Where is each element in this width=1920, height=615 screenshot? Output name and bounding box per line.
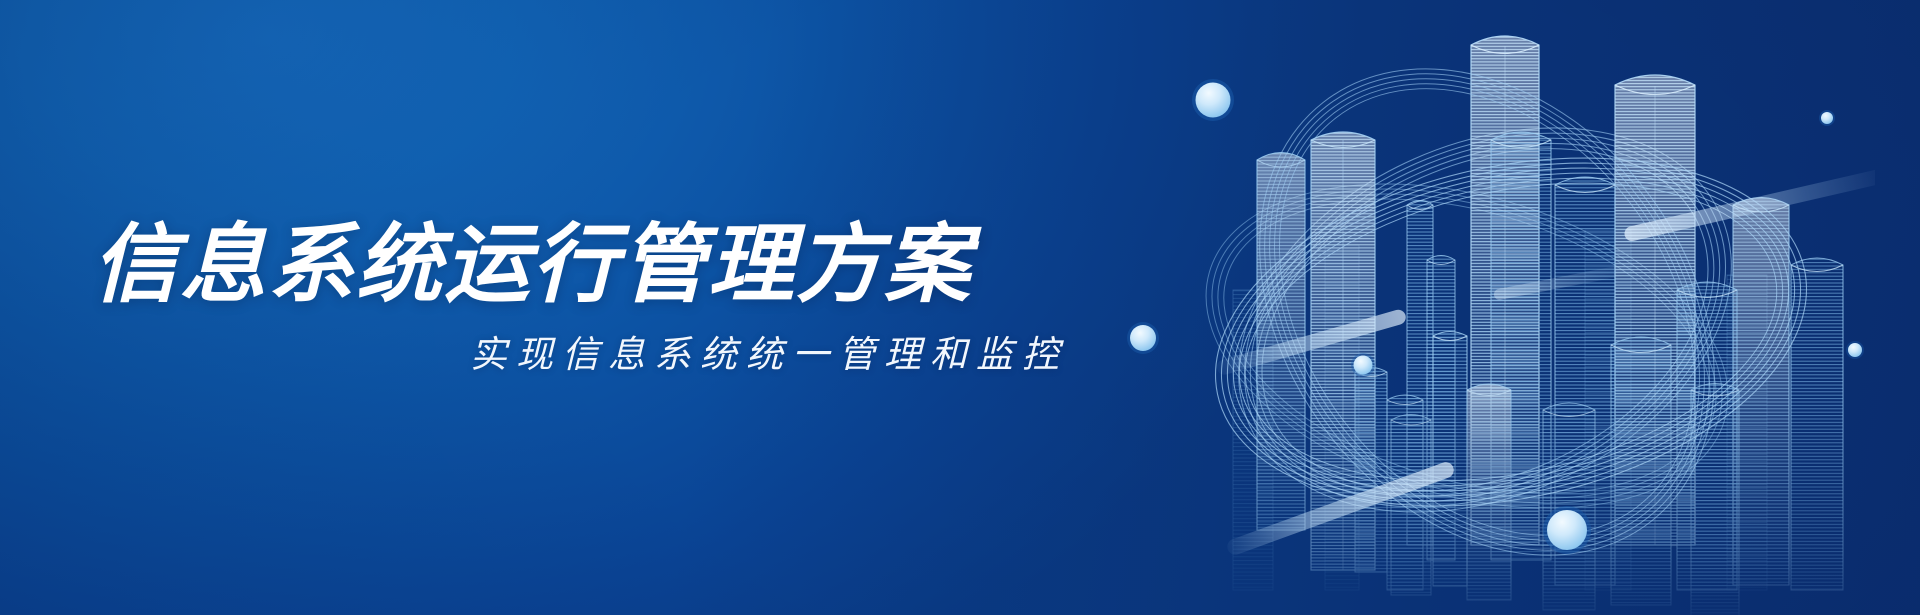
banner-headline: 信息系统运行管理方案	[92, 222, 972, 308]
wireframe-city-illustration	[1115, 0, 1875, 615]
city-skyline	[1233, 36, 1843, 615]
tower-f4	[1433, 332, 1467, 587]
glow-dot-small-mid	[1351, 353, 1375, 377]
glow-dot-large-top	[1192, 79, 1234, 121]
glow-dot-right-mid	[1846, 341, 1864, 359]
tower-f5	[1467, 384, 1511, 600]
hero-banner: 信息系统运行管理方案 实现信息系统统一管理和监控	[0, 0, 1920, 615]
glow-dot-left-mid	[1127, 322, 1159, 354]
banner-text-block: 信息系统运行管理方案 实现信息系统统一管理和监控	[0, 0, 1100, 615]
glow-dot-right-small	[1819, 110, 1835, 126]
banner-subheadline: 实现信息系统统一管理和监控	[470, 336, 1068, 373]
glow-dot-large-bottom	[1543, 506, 1591, 554]
tower-f7	[1611, 337, 1671, 605]
